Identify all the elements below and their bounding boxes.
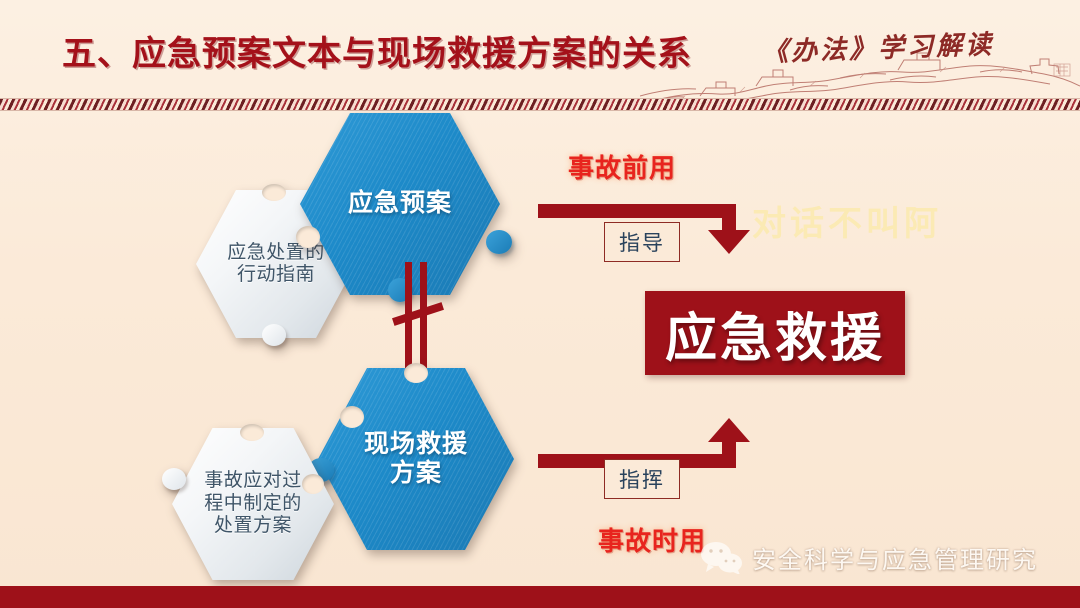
footer-watermark-text: 安全科学与应急管理研究 [752,540,1038,575]
hexagon-shape [318,368,514,550]
puzzle-notch-left [296,226,320,248]
caption-during-accident: 事故时用 [598,521,706,558]
puzzle-knob-bottom [262,324,286,346]
puzzle-notch-upper-left [340,406,364,428]
puzzle-knob-left [162,468,186,490]
hexagon-shape [172,428,334,580]
hexagon-onsite-rescue-plan: 现场救援 方案 [318,368,514,550]
tag-guide: 指导 [604,222,680,262]
footer-bar [0,586,1080,608]
tag-command-label: 指挥 [619,464,665,494]
puzzle-knob-right [486,230,512,254]
hatched-divider [0,98,1080,111]
slide-canvas: 五、应急预案文本与现场救援方案的关系 《办法》学习解读 [0,0,1080,608]
caption-before-accident: 事故前用 [568,148,676,185]
result-box: 应急救援 [645,291,905,375]
puzzle-notch-top [240,424,264,441]
tag-command: 指挥 [604,459,680,499]
puzzle-notch-top [404,363,428,383]
hexagon-onsite-description: 事故应对过 程中制定的 处置方案 [172,428,334,580]
puzzle-notch-right [302,474,324,494]
puzzle-notch-top [262,184,286,201]
page-title: 五、应急预案文本与现场救援方案的关系 [62,26,692,75]
footer-watermark: 安全科学与应急管理研究 [700,540,1038,575]
result-label: 应急救援 [665,296,885,371]
not-equal-symbol [398,262,438,374]
neq-slash [392,302,444,326]
neq-bar-right [420,262,427,374]
ghost-watermark-text: 对话不叫阿 [752,196,942,245]
tag-guide-label: 指导 [619,227,665,257]
wechat-icon [700,542,744,574]
